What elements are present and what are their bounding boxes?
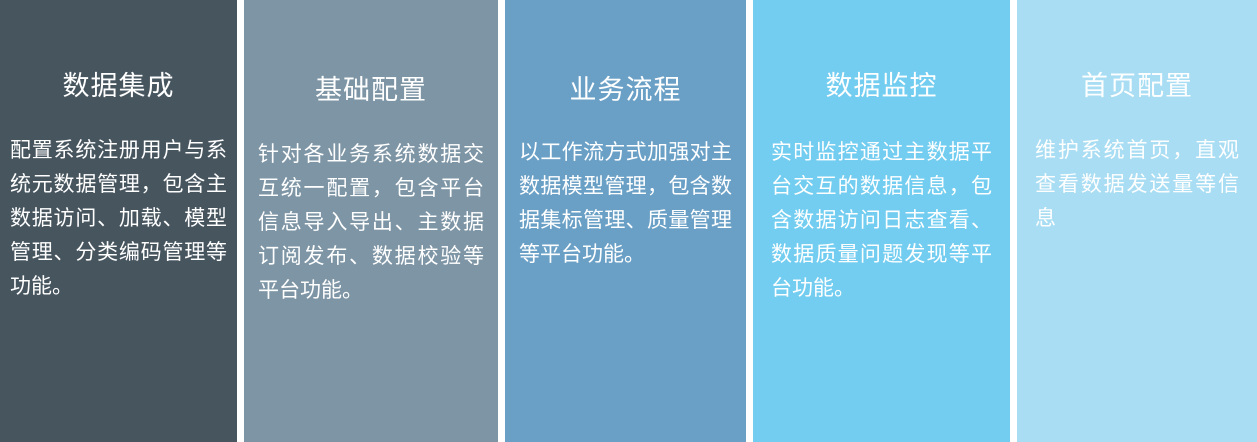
panel-title: 首页配置 <box>1017 72 1257 102</box>
panel-divider <box>237 0 244 442</box>
panel-description: 配置系统注册用户与系统元数据管理，包含主数据访问、加载、模型管理、分类编码管理等… <box>0 134 237 304</box>
panel-title: 基础配置 <box>244 76 498 106</box>
feature-panel-basic-configuration[interactable]: 基础配置 针对各业务系统数据交互统一配置，包含平台信息导入导出、主数据订阅发布、… <box>244 0 498 442</box>
feature-panel-data-integration[interactable]: 数据集成 配置系统注册用户与系统元数据管理，包含主数据访问、加载、模型管理、分类… <box>0 0 237 442</box>
panel-description: 实时监控通过主数据平台交互的数据信息，包含数据访问日志查看、数据质量问题发现等平… <box>753 136 1010 306</box>
feature-panel-strip: 数据集成 配置系统注册用户与系统元数据管理，包含主数据访问、加载、模型管理、分类… <box>0 0 1257 442</box>
feature-panel-business-process[interactable]: 业务流程 以工作流方式加强对主数据模型管理，包含数据集标管理、质量管理等平台功能… <box>505 0 746 442</box>
panel-title: 数据监控 <box>753 72 1010 102</box>
feature-panel-homepage-configuration[interactable]: 首页配置 维护系统首页，直观查看数据发送量等信息 <box>1017 0 1257 442</box>
feature-panel-data-monitoring[interactable]: 数据监控 实时监控通过主数据平台交互的数据信息，包含数据访问日志查看、数据质量问… <box>753 0 1010 442</box>
panel-description: 以工作流方式加强对主数据模型管理，包含数据集标管理、质量管理等平台功能。 <box>505 136 746 272</box>
panel-divider <box>498 0 505 442</box>
panel-description: 针对各业务系统数据交互统一配置，包含平台信息导入导出、主数据订阅发布、数据校验等… <box>244 138 498 308</box>
panel-title: 数据集成 <box>0 72 237 102</box>
panel-description: 维护系统首页，直观查看数据发送量等信息 <box>1017 134 1257 236</box>
panel-divider <box>1010 0 1017 442</box>
panel-divider <box>746 0 753 442</box>
panel-title: 业务流程 <box>505 76 746 106</box>
